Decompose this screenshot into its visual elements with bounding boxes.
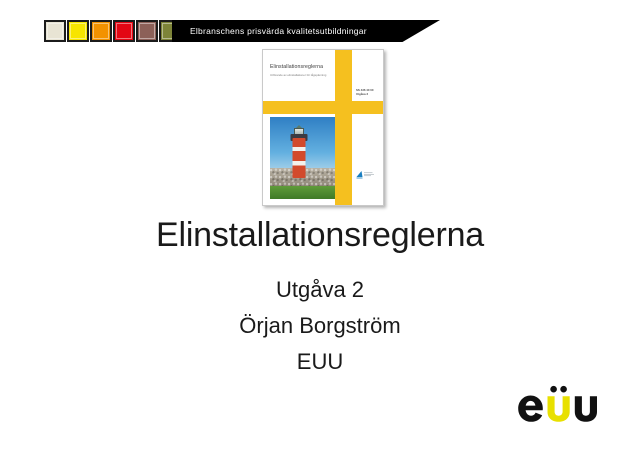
photo-grass: [270, 186, 335, 199]
subtitle-edition: Utgåva 2: [0, 277, 640, 303]
book-horizontal-band: [263, 101, 383, 114]
subtitle-organisation: EUU: [0, 349, 640, 375]
slide-canvas: Elbranschens prisvärda kvalitetsutbildni…: [0, 0, 640, 452]
euu-logo-umlaut-dot-right: [560, 386, 567, 393]
book-cover-image: Elinstallationsreglerna Utförande av eli…: [262, 49, 384, 206]
euu-logo: [516, 381, 600, 425]
swatch-cream: [44, 20, 66, 42]
euu-logo-letter-e: [518, 396, 543, 422]
swatch-mauve: [136, 20, 158, 42]
book-cover-subtitle: Utförande av elinstallationer för lågspä…: [270, 74, 332, 78]
page-title: Elinstallationsreglerna: [0, 216, 640, 255]
header-banner: Elbranschens prisvärda kvalitetsutbildni…: [172, 20, 440, 42]
book-cover-title: Elinstallationsreglerna: [270, 64, 332, 71]
book-vertical-band: [335, 50, 352, 205]
euu-logo-letter-u-umlaut: [548, 386, 570, 422]
euu-logo-umlaut-dot-left: [550, 386, 557, 393]
swatch-red: [113, 20, 135, 42]
swatch-yellow: [67, 20, 89, 42]
lighthouse-photo: [270, 117, 335, 199]
euu-logo-letter-u-capital: [575, 396, 597, 422]
book-cover-code-block: SS 436 40 00 Utgåva 2: [356, 88, 380, 97]
sek-svensk-elstandard-logo: [356, 170, 380, 180]
header-banner-text: Elbranschens prisvärda kvalitetsutbildni…: [172, 26, 367, 36]
subtitle-author: Örjan Borgström: [0, 313, 640, 339]
book-cover-edition: Utgåva 2: [356, 92, 380, 96]
swatch-orange: [90, 20, 112, 42]
lighthouse-tower-icon: [292, 138, 305, 177]
